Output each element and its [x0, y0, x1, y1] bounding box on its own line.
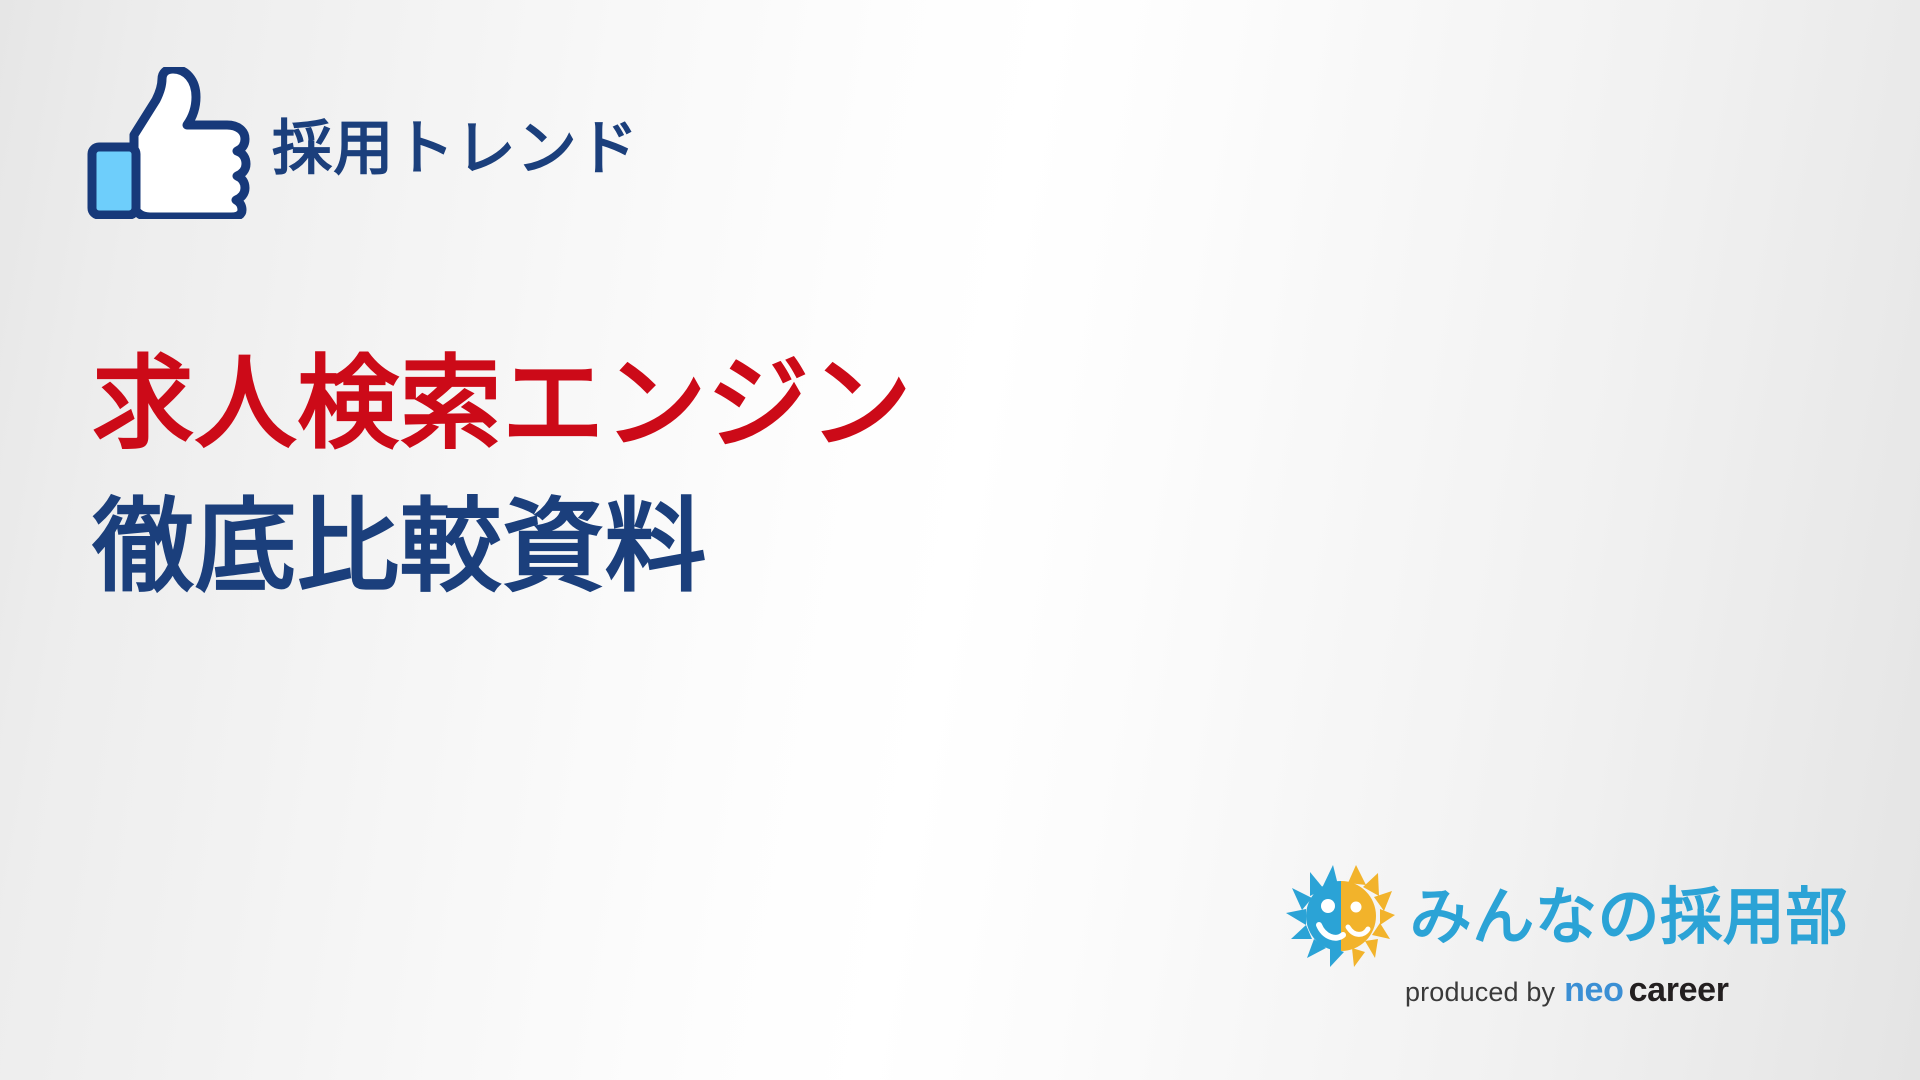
brand-tagline: produced by neo career — [1405, 971, 1729, 1010]
brand-main-row: みんなの採用部 — [1286, 863, 1848, 969]
sun-face-logo-icon — [1286, 863, 1396, 969]
kicker-group: 採用トレンド — [86, 68, 639, 218]
headline-line-secondary: 徹底比較資料 — [92, 481, 912, 614]
title-slide: 採用トレンド 求人検索エンジン 徹底比較資料 — [0, 0, 1920, 1080]
tagline-neo: neo — [1564, 971, 1623, 1010]
thumbs-up-icon — [86, 67, 256, 219]
kicker-label: 採用トレンド — [272, 119, 639, 179]
tagline-prefix: produced by — [1405, 977, 1555, 1008]
brand-lockup: みんなの採用部 produced by neo career — [1286, 863, 1848, 1012]
tagline-career: career — [1629, 971, 1729, 1010]
page-title: 求人検索エンジン 徹底比較資料 — [92, 338, 912, 613]
brand-wordmark: みんなの採用部 — [1410, 887, 1848, 949]
headline-line-primary: 求人検索エンジン — [92, 338, 912, 471]
